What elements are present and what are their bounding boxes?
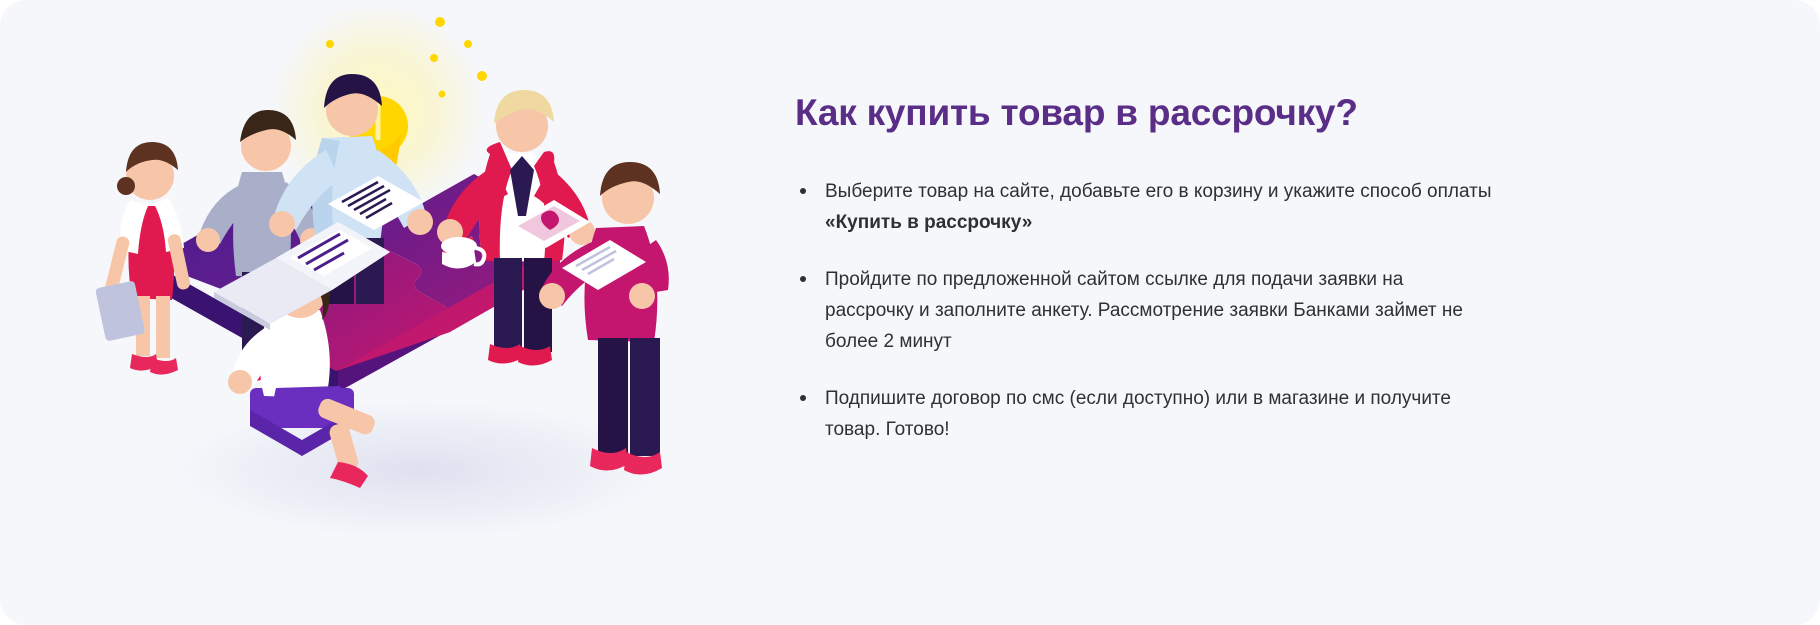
- person-woman-left: [95, 142, 191, 375]
- bullet-dot-icon: [800, 188, 806, 194]
- list-item: Подпишите договор по смс (если доступно)…: [795, 383, 1495, 445]
- list-item: Выберите товар на сайте, добавьте его в …: [795, 176, 1495, 238]
- team-brainstorm-illustration: [90, 0, 770, 625]
- bullet-dot-icon: [800, 395, 806, 401]
- page-title: Как купить товар в рассрочку?: [795, 92, 1358, 134]
- text-column: Как купить товар в рассрочку? Выберите т…: [795, 0, 1555, 625]
- step-text: Пройдите по предложенной сайтом ссылке д…: [825, 269, 1463, 352]
- step-text: Выберите товар на сайте, добавьте его в …: [825, 181, 1492, 202]
- step-text: Подпишите договор по смс (если доступно)…: [825, 388, 1451, 440]
- bullet-dot-icon: [800, 276, 806, 282]
- installment-info-banner: Как купить товар в рассрочку? Выберите т…: [0, 0, 1820, 625]
- floor-shadow: [170, 400, 670, 540]
- list-item: Пройдите по предложенной сайтом ссылке д…: [795, 264, 1495, 357]
- steps-list: Выберите товар на сайте, добавьте его в …: [795, 176, 1495, 445]
- step-text-bold: «Купить в рассрочку»: [825, 212, 1032, 233]
